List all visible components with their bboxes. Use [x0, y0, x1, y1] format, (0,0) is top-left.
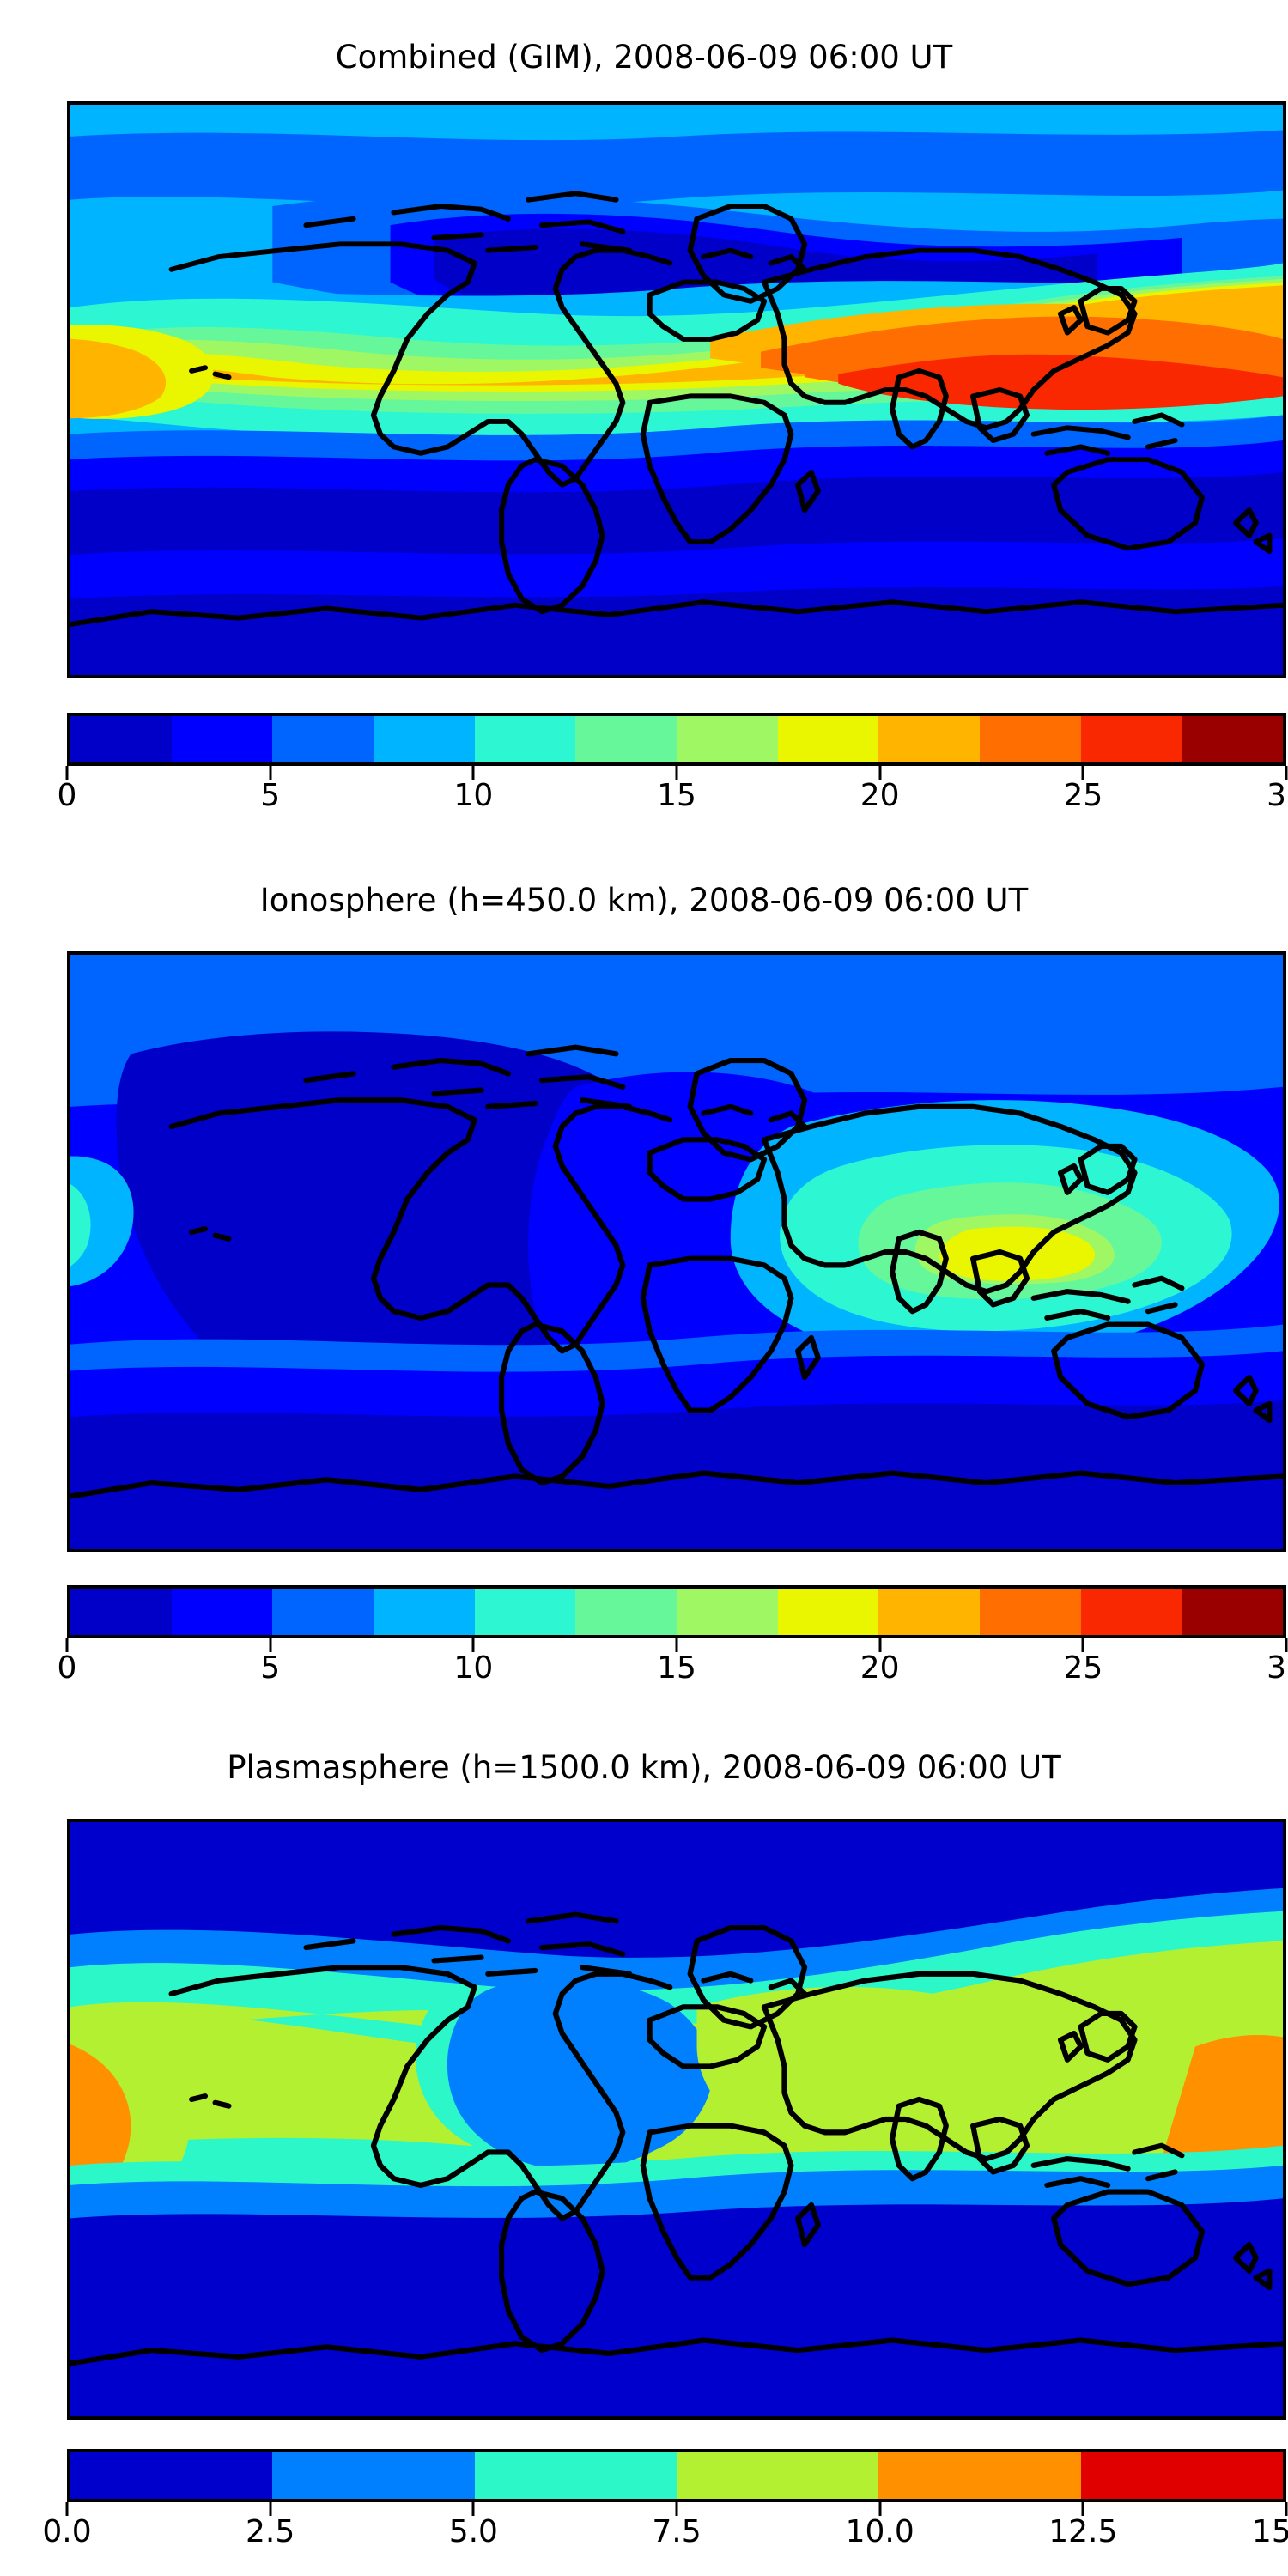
colorbar-segment-9 — [980, 716, 1081, 762]
panel-ionosphere: Ionosphere (h=450.0 km), 2008-06-09 06:0… — [0, 884, 1288, 916]
colorbar-plasmasphere: 0.02.55.07.510.012.515.0 — [67, 2449, 1286, 2554]
colorbar-segment-4 — [475, 716, 576, 762]
tec-map-figure: Combined (GIM), 2008-06-09 06:00 UT — [0, 0, 1288, 2576]
colorbar-gradient-combined — [67, 713, 1286, 766]
colorbar-tick-label-4: 10.0 — [846, 2516, 914, 2549]
colorbar-segment-10 — [1081, 1589, 1182, 1635]
colorbar-labels-ionosphere: 051015202530 — [67, 1652, 1286, 1690]
colorbar-gradient-ionosphere — [67, 1585, 1286, 1638]
colorbar-segment-11 — [1182, 716, 1283, 762]
colorbar-tick-label-5: 25 — [1063, 780, 1103, 812]
colorbar-tick-label-5: 12.5 — [1048, 2516, 1117, 2549]
colorbar-segment-1 — [172, 716, 273, 762]
colorbar-tick-label-0: 0 — [58, 780, 77, 812]
colorbar-segment-8 — [878, 1589, 980, 1635]
map-canvas-ionosphere — [70, 955, 1283, 1549]
colorbar-segment-9 — [980, 1589, 1081, 1635]
colorbar-segment-5 — [575, 1589, 677, 1635]
colorbar-segment-7 — [778, 716, 879, 762]
colorbar-tick-label-2: 5.0 — [449, 2516, 498, 2549]
colorbar-segment-2 — [272, 1589, 374, 1635]
colorbar-tick-label-3: 7.5 — [652, 2516, 701, 2549]
colorbar-tick-label-1: 5 — [260, 780, 280, 812]
colorbar-tick-label-5: 25 — [1063, 1652, 1103, 1685]
map-plasmasphere — [67, 1819, 1286, 2420]
colorbar-segment-4 — [878, 2452, 1080, 2499]
colorbar-segment-2 — [272, 716, 374, 762]
colorbar-combined: 051015202530 — [67, 713, 1286, 817]
colorbar-tick-label-6: 30 — [1267, 780, 1288, 812]
colorbar-segment-0 — [70, 2452, 272, 2499]
panel-title-ionosphere: Ionosphere (h=450.0 km), 2008-06-09 06:0… — [0, 884, 1288, 916]
colorbar-tick-label-6: 15.0 — [1252, 2516, 1288, 2549]
colorbar-labels-plasmasphere: 0.02.55.07.510.012.515.0 — [67, 2516, 1286, 2554]
map-canvas-plasmasphere — [70, 1822, 1283, 2416]
colorbar-tick-label-4: 20 — [860, 780, 900, 812]
colorbar-segment-3 — [677, 2452, 878, 2499]
colorbar-segment-3 — [374, 716, 475, 762]
panel-combined-gim: Combined (GIM), 2008-06-09 06:00 UT — [0, 41, 1288, 73]
colorbar-gradient-plasmasphere — [67, 2449, 1286, 2502]
colorbar-tick-label-0: 0.0 — [42, 2516, 91, 2549]
colorbar-tick-label-4: 20 — [860, 1652, 900, 1685]
colorbar-segment-6 — [677, 1589, 778, 1635]
colorbar-segment-11 — [1182, 1589, 1283, 1635]
colorbar-tick-label-1: 2.5 — [246, 2516, 295, 2549]
panel-title-plasmasphere: Plasmasphere (h=1500.0 km), 2008-06-09 0… — [0, 1752, 1288, 1783]
colorbar-segment-4 — [475, 1589, 576, 1635]
map-combined-gim — [67, 101, 1286, 678]
colorbar-ionosphere: 051015202530 — [67, 1585, 1286, 1690]
colorbar-segment-2 — [475, 2452, 677, 2499]
colorbar-segment-6 — [677, 716, 778, 762]
colorbar-tick-label-2: 10 — [453, 1652, 493, 1685]
colorbar-segment-0 — [70, 1589, 172, 1635]
colorbar-segment-0 — [70, 716, 172, 762]
colorbar-tick-label-3: 15 — [657, 1652, 696, 1685]
colorbar-tick-label-1: 5 — [260, 1652, 280, 1685]
map-canvas-combined — [70, 105, 1283, 675]
colorbar-labels-combined: 051015202530 — [67, 780, 1286, 817]
panel-title-combined: Combined (GIM), 2008-06-09 06:00 UT — [0, 41, 1288, 73]
colorbar-segment-1 — [272, 2452, 474, 2499]
map-ionosphere — [67, 951, 1286, 1552]
colorbar-segment-5 — [1081, 2452, 1283, 2499]
colorbar-segment-8 — [878, 716, 980, 762]
colorbar-segment-7 — [778, 1589, 879, 1635]
colorbar-segment-1 — [172, 1589, 273, 1635]
colorbar-tick-label-6: 30 — [1267, 1652, 1288, 1685]
colorbar-tick-label-3: 15 — [657, 780, 696, 812]
colorbar-tick-label-0: 0 — [58, 1652, 77, 1685]
colorbar-segment-10 — [1081, 716, 1182, 762]
panel-plasmasphere: Plasmasphere (h=1500.0 km), 2008-06-09 0… — [0, 1752, 1288, 1783]
colorbar-segment-3 — [374, 1589, 475, 1635]
colorbar-segment-5 — [575, 716, 677, 762]
colorbar-tick-label-2: 10 — [453, 780, 493, 812]
